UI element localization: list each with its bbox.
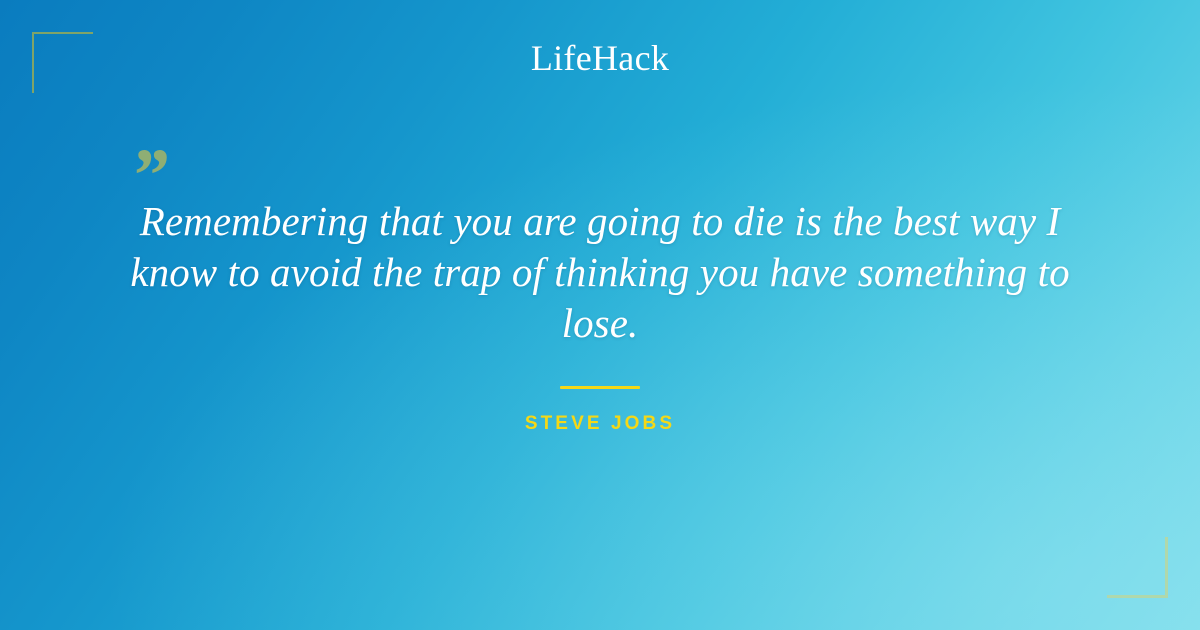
quote-content: ” Remembering that you are going to die … <box>0 132 1200 435</box>
quote-text: Remembering that you are going to die is… <box>110 132 1090 348</box>
brand-logo: LifeHack <box>0 40 1200 76</box>
divider-rule <box>560 386 640 389</box>
quote-author: STEVE JOBS <box>0 413 1200 435</box>
quotation-mark-icon: ” <box>130 138 166 214</box>
brand-logo-text: LifeHack <box>531 40 669 76</box>
quote-card: LifeHack ” Remembering that you are goin… <box>0 0 1200 630</box>
corner-bracket-bottom-right-icon <box>1107 537 1168 598</box>
